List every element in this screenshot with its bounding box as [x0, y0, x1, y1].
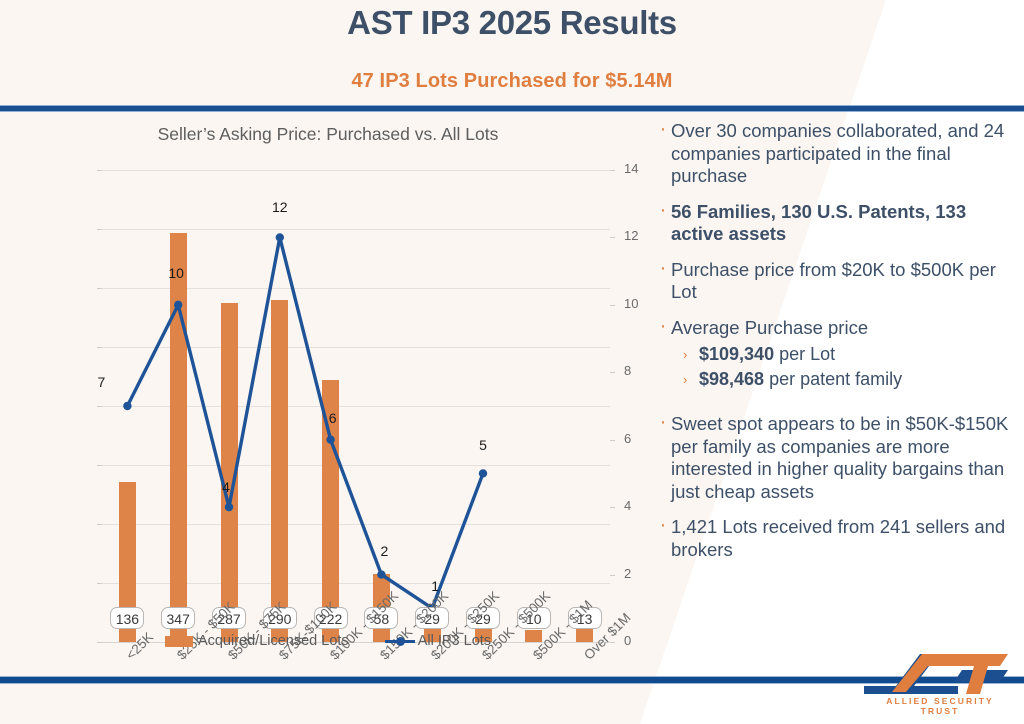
chart-line-value-label: 4 — [204, 479, 248, 495]
bullet-item: · Sweet spot appears to be in $50K-$150K… — [655, 413, 1015, 503]
sub-bullet-item: › $98,468 per patent family — [683, 368, 1015, 391]
bullet-text: Sweet spot appears to be in $50K-$150K p… — [671, 413, 1015, 503]
chart-line-marker[interactable] — [123, 402, 131, 410]
sub-bullet-value: $98,468 — [699, 369, 764, 389]
chart-bar-value-box: 347 — [161, 607, 195, 629]
line-swatch-icon — [385, 636, 415, 647]
chart-line-marker[interactable] — [377, 570, 385, 578]
bullet-text: Purchase price from $20K to $500K per Lo… — [671, 259, 1015, 304]
header-divider — [0, 105, 1024, 112]
legend-label-line: All IP3 Lots — [418, 633, 491, 649]
bullet-dot-icon: · — [655, 201, 671, 220]
chart-line-marker[interactable] — [326, 436, 334, 444]
legend-item-line: All IP3 Lots — [385, 633, 491, 649]
bar-swatch-icon — [165, 636, 193, 647]
bullet-item: · Purchase price from $20K to $500K per … — [655, 259, 1015, 304]
page-subtitle: 47 IP3 Lots Purchased for $5.14M — [0, 70, 1024, 93]
page-title: AST IP3 2025 Results — [0, 4, 1024, 42]
chart-line-value-label: 10 — [154, 265, 198, 281]
sub-bullet-suffix: per patent family — [764, 369, 902, 389]
chart-line-path — [127, 237, 483, 608]
chart-line-value-label: 12 — [258, 199, 302, 215]
legend-item-bars: Acquired/Licensed Lots — [165, 633, 349, 649]
chart-title: Seller’s Asking Price: Purchased vs. All… — [18, 124, 638, 145]
sub-bullet-value: $109,340 — [699, 344, 774, 364]
sub-bullet-suffix: per Lot — [774, 344, 835, 364]
chart-line-value-label: 5 — [461, 437, 505, 453]
bullet-text: Average Purchase price — [671, 317, 1015, 340]
bullet-text: Over 30 companies collaborated, and 24 c… — [671, 120, 1015, 188]
bullet-item: · Over 30 companies collaborated, and 24… — [655, 120, 1015, 188]
ast-logo: ALLIED SECURITY TRUST — [862, 652, 1012, 716]
chevron-right-icon: › — [683, 368, 699, 391]
bullet-text: 56 Families, 130 U.S. Patents, 133 activ… — [671, 201, 1015, 246]
chart-line-value-label: 6 — [311, 410, 355, 426]
chart-line-series — [102, 170, 610, 642]
bullet-item: · 1,421 Lots received from 241 sellers a… — [655, 516, 1015, 561]
y-axis-right-tick-mark — [610, 170, 615, 171]
y-axis-right-tick-mark — [610, 305, 615, 306]
chevron-right-icon: › — [683, 343, 699, 366]
y-axis-right-tick-mark — [610, 507, 615, 508]
chart-line-value-label: 7 — [79, 374, 123, 390]
key-points-list: · Over 30 companies collaborated, and 24… — [655, 120, 1015, 574]
legend-label-bars: Acquired/Licensed Lots — [198, 633, 349, 649]
y-axis-right-tick-mark — [610, 372, 615, 373]
ast-logo-icon — [862, 652, 1012, 698]
chart-legend: Acquired/Licensed Lots All IP3 Lots — [18, 633, 638, 649]
sub-bullet-text: $109,340 per Lot — [699, 343, 1015, 366]
sub-bullet-item: › $109,340 per Lot — [683, 343, 1015, 366]
bullet-item: · Average Purchase price — [655, 317, 1015, 340]
y-axis-right-tick-mark — [610, 237, 615, 238]
logo-tagline: ALLIED SECURITY TRUST — [868, 696, 1012, 716]
chart-line-marker[interactable] — [225, 503, 233, 511]
chart-line-value-label: 2 — [362, 543, 406, 559]
chart-bar-value-box: 136 — [110, 607, 144, 629]
slide-canvas: AST IP3 2025 Results 47 IP3 Lots Purchas… — [0, 0, 1024, 724]
bullet-dot-icon: · — [655, 120, 671, 139]
chart-line-marker[interactable] — [174, 301, 182, 309]
chart-line-marker[interactable] — [479, 469, 487, 477]
bullet-dot-icon: · — [655, 317, 671, 336]
y-axis-right-tick-mark — [610, 575, 615, 576]
list-spacer — [655, 393, 1015, 413]
y-axis-right-tick-mark — [610, 440, 615, 441]
chart-container: Seller’s Asking Price: Purchased vs. All… — [18, 118, 638, 668]
chart-plot-area: 0501001502002503003504000246810121471041… — [102, 170, 610, 642]
bullet-item: · 56 Families, 130 U.S. Patents, 133 act… — [655, 201, 1015, 246]
bullet-dot-icon: · — [655, 259, 671, 278]
bullet-text: 1,421 Lots received from 241 sellers and… — [671, 516, 1015, 561]
bullet-dot-icon: · — [655, 413, 671, 432]
chart-line-marker[interactable] — [276, 233, 284, 241]
bullet-dot-icon: · — [655, 516, 671, 535]
sub-bullet-text: $98,468 per patent family — [699, 368, 1015, 391]
